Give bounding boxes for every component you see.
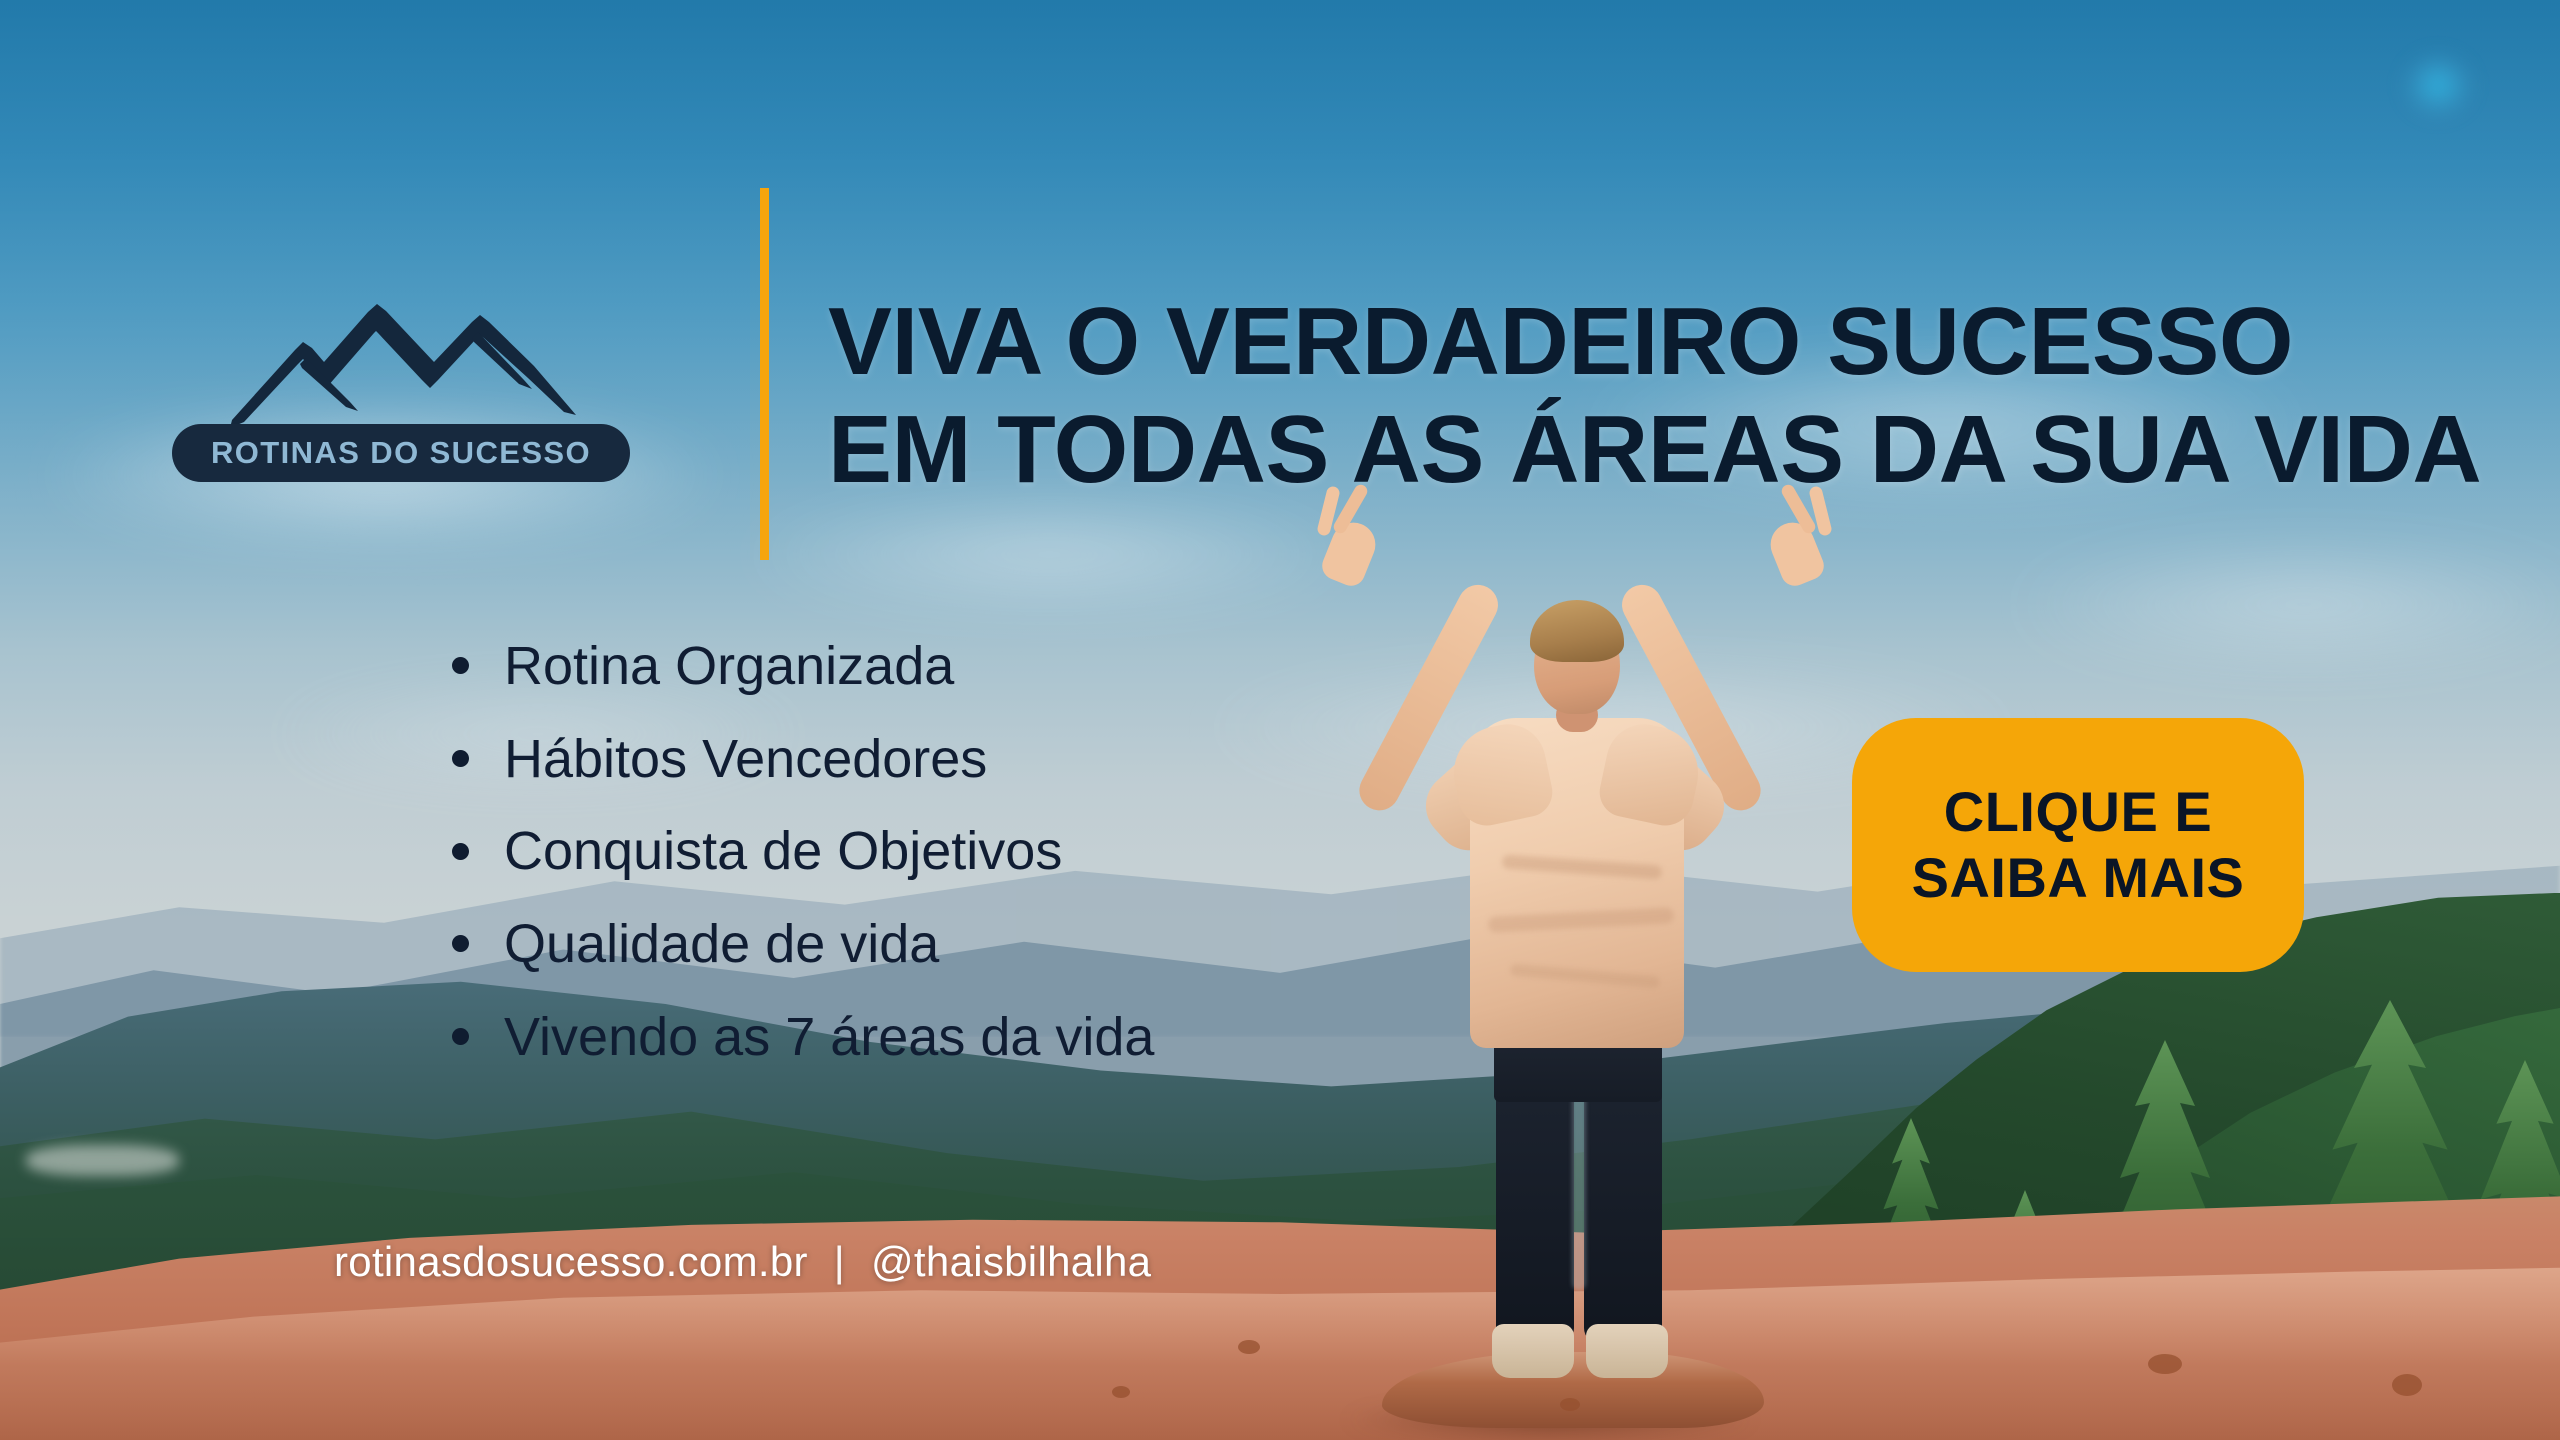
bullet-dot-icon (452, 1028, 469, 1045)
website-url[interactable]: rotinasdosucesso.com.br (334, 1238, 808, 1286)
footer-contact: rotinasdosucesso.com.br | @thaisbilhalha (334, 1238, 1151, 1286)
social-handle[interactable]: @thaisbilhalha (871, 1238, 1151, 1286)
list-item: Conquista de Objetivos (448, 823, 1154, 880)
list-item: Rotina Organizada (448, 638, 1154, 695)
benefit-label: Qualidade de vida (504, 914, 939, 974)
headline-line-1: VIVA O VERDADEIRO SUCESSO (828, 288, 2468, 396)
list-item: Vivendo as 7 áreas da vida (448, 1009, 1154, 1066)
footer-separator: | (834, 1238, 845, 1286)
benefit-label: Vivendo as 7 áreas da vida (504, 1007, 1154, 1067)
page-title: VIVA O VERDADEIRO SUCESSO EM TODAS AS ÁR… (828, 288, 2468, 503)
headline-line-2: EM TODAS AS ÁREAS DA SUA VIDA (828, 396, 2468, 504)
bullet-dot-icon (452, 935, 469, 952)
list-item: Hábitos Vencedores (448, 731, 1154, 788)
benefit-label: Rotina Organizada (504, 636, 954, 696)
mountain-peaks-icon (230, 304, 576, 428)
cta-line-2: SAIBA MAIS (1912, 845, 2245, 911)
logo-wordmark: ROTINAS DO SUCESSO (211, 435, 591, 471)
orange-divider (760, 188, 769, 560)
promo-banner: ROTINAS DO SUCESSO VIVA O VERDADEIRO SUC… (0, 0, 2560, 1440)
overlay-content: ROTINAS DO SUCESSO VIVA O VERDADEIRO SUC… (0, 0, 2560, 1440)
bullet-dot-icon (452, 843, 469, 860)
cta-line-1: CLIQUE E (1912, 779, 2245, 845)
benefit-label: Hábitos Vencedores (504, 729, 987, 789)
cta-button[interactable]: CLIQUE E SAIBA MAIS (1852, 718, 2304, 972)
brand-logo[interactable]: ROTINAS DO SUCESSO (172, 252, 712, 482)
bullet-dot-icon (452, 750, 469, 767)
benefits-list: Rotina Organizada Hábitos Vencedores Con… (448, 638, 1154, 1065)
benefit-label: Conquista de Objetivos (504, 821, 1062, 881)
bullet-dot-icon (452, 657, 469, 674)
list-item: Qualidade de vida (448, 916, 1154, 973)
